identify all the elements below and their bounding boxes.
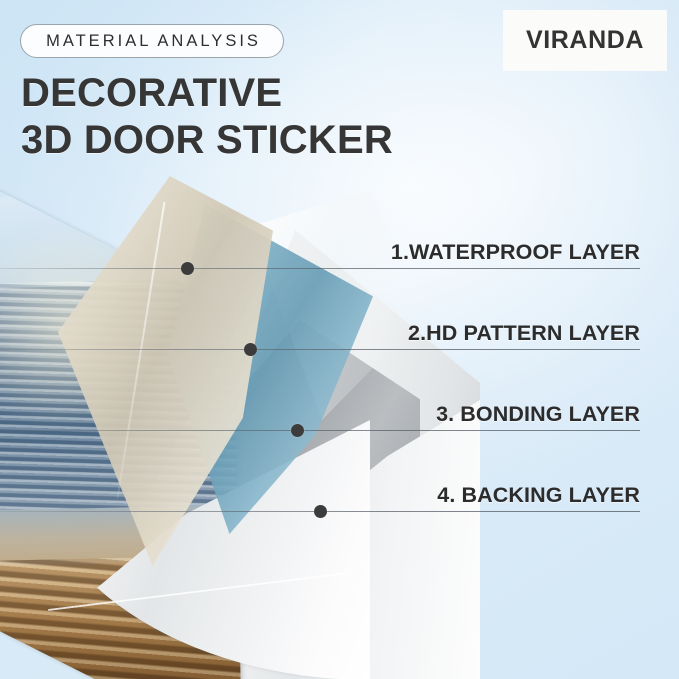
callout-label: 3. BONDING LAYER xyxy=(436,402,640,427)
callout-dot xyxy=(291,424,304,437)
product-infographic-poster: MATERIAL ANALYSIS DECORATIVE 3D DOOR STI… xyxy=(0,0,679,679)
callout-dot xyxy=(314,505,327,518)
callout-1: 1.WATERPROOF LAYER xyxy=(0,268,640,269)
brand-name: VIRANDA xyxy=(526,26,644,55)
callout-label: 4. BACKING LAYER xyxy=(437,483,640,508)
callout-3: 3. BONDING LAYER xyxy=(0,430,640,431)
callout-leader-line xyxy=(0,349,640,350)
badge-label: MATERIAL ANALYSIS xyxy=(43,32,261,51)
page-title-line-2: 3D DOOR STICKER xyxy=(21,117,491,164)
callout-4: 4. BACKING LAYER xyxy=(0,511,640,512)
callout-label: 1.WATERPROOF LAYER xyxy=(391,240,640,265)
callout-2: 2.HD PATTERN LAYER xyxy=(0,349,640,350)
callout-label: 2.HD PATTERN LAYER xyxy=(408,321,640,346)
brand-logo-plate: VIRANDA xyxy=(503,10,667,71)
material-analysis-badge: MATERIAL ANALYSIS xyxy=(20,24,284,58)
callout-dot xyxy=(244,343,257,356)
page-title-line-1: DECORATIVE xyxy=(21,70,491,117)
page-title: DECORATIVE 3D DOOR STICKER xyxy=(21,70,491,164)
callout-dot xyxy=(181,262,194,275)
callout-leader-line xyxy=(0,430,640,431)
callout-leader-line xyxy=(0,268,640,269)
